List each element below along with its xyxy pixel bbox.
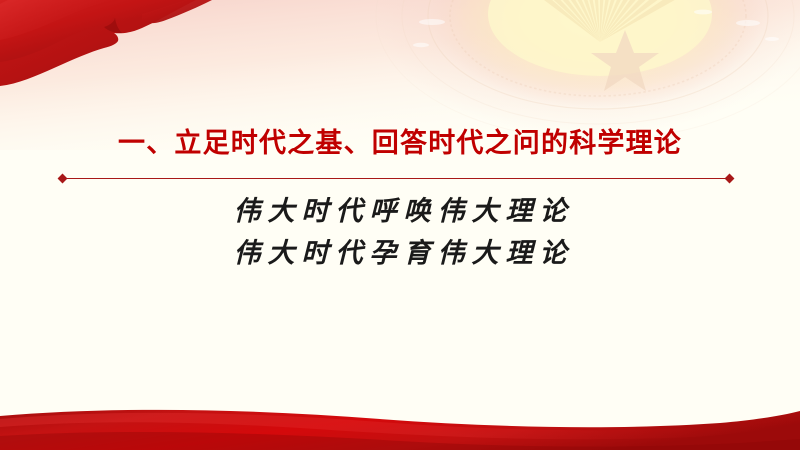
divider-right-diamond-icon <box>725 174 735 184</box>
divider-line <box>62 178 730 179</box>
body-line-1: 伟大时代呼唤伟大理论 <box>0 190 800 232</box>
presentation-slide: 一、立足时代之基、回答时代之问的科学理论 伟大时代呼唤伟大理论 伟大时代孕育伟大… <box>0 0 800 450</box>
body-text-block: 伟大时代呼唤伟大理论 伟大时代孕育伟大理论 <box>0 190 800 274</box>
title-divider <box>62 174 730 183</box>
page-title: 一、立足时代之基、回答时代之问的科学理论 <box>0 128 800 159</box>
body-line-2: 伟大时代孕育伟大理论 <box>0 232 800 274</box>
title-block: 一、立足时代之基、回答时代之问的科学理论 <box>0 128 800 159</box>
slide-content: 一、立足时代之基、回答时代之问的科学理论 伟大时代呼唤伟大理论 伟大时代孕育伟大… <box>0 0 800 450</box>
